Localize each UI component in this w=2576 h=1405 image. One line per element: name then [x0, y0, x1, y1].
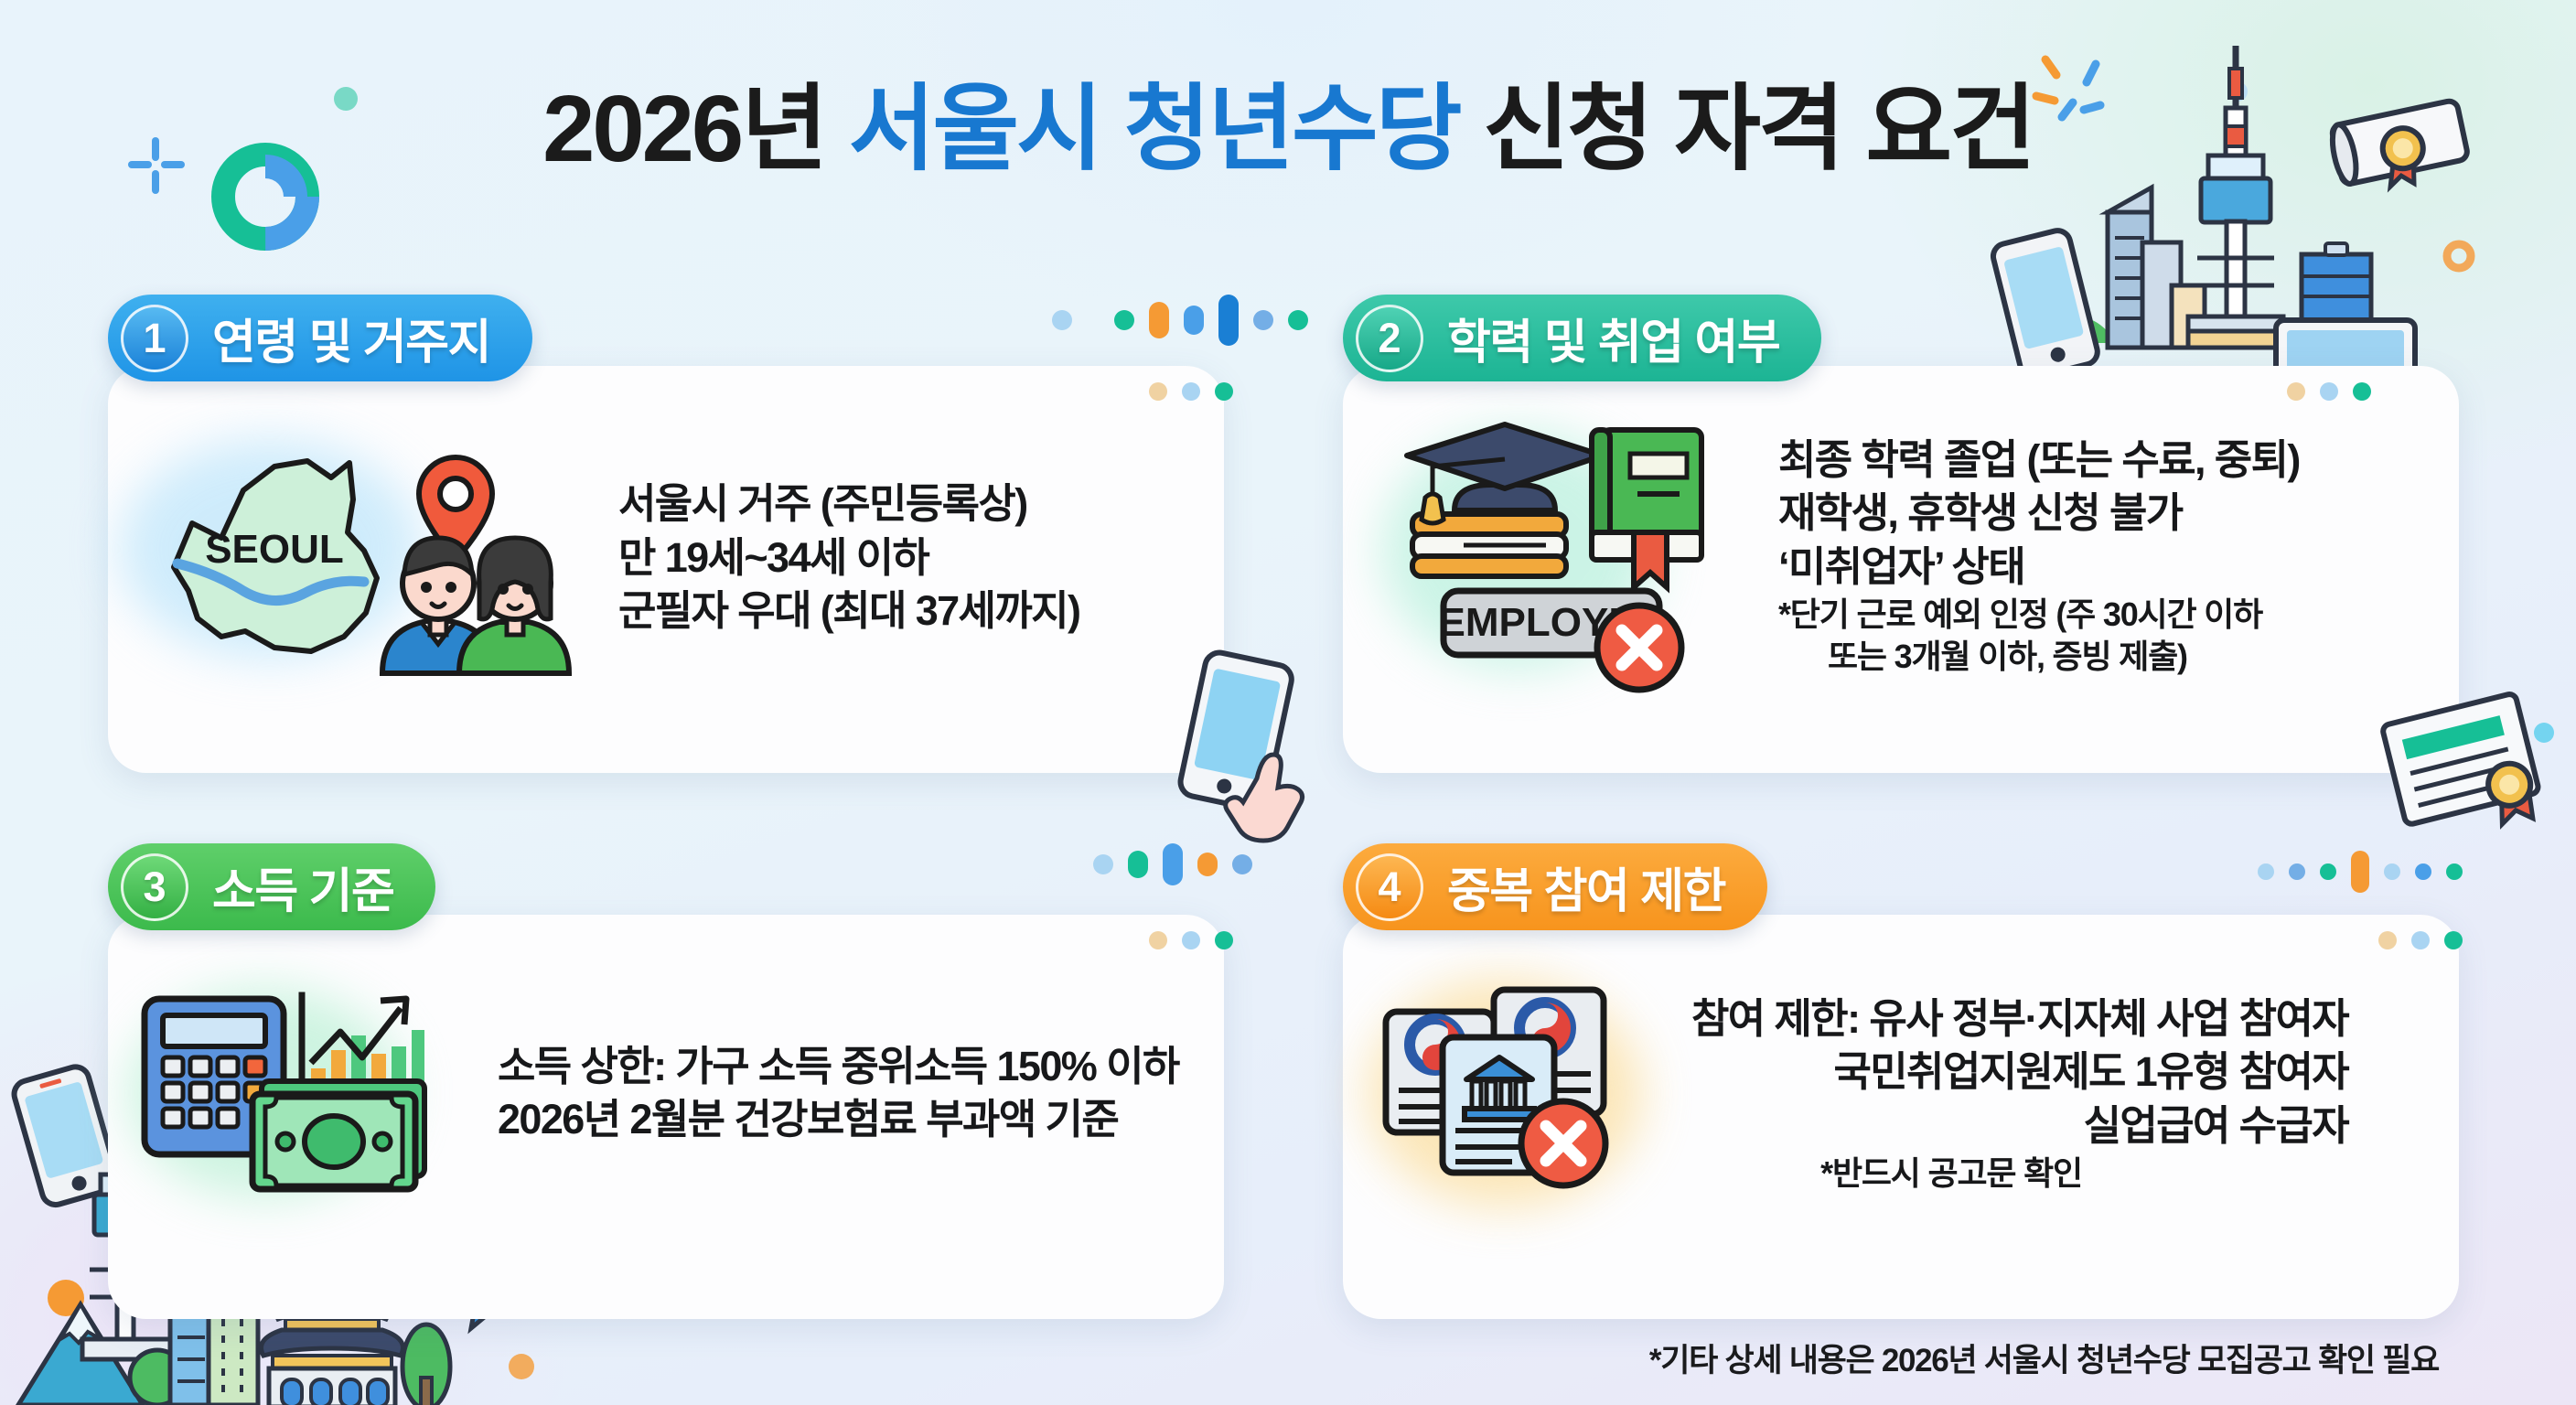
dot-row-card4 — [2258, 851, 2463, 893]
card-4-line-3: 실업급여 수급자 — [1691, 1099, 2348, 1153]
card-1-text: 서울시 거주 (주민등록상) 만 19세~34세 이하 군필자 우대 (최대 3… — [618, 477, 1079, 638]
infographic-canvas: 2026년 서울시 청년수당 신청 자격 요건 1 연령 및 거주지 2 학력 … — [0, 0, 2576, 1405]
card-2-text: 최종 학력 졸업 (또는 수료, 중퇴) 재학생, 휴학생 신청 불가 ‘미취업… — [1778, 434, 2300, 677]
dot-row-card3-lower — [1149, 931, 1233, 949]
red-x-icon — [1597, 606, 1681, 690]
card-number-3: 3 — [121, 853, 188, 921]
duplicate-restriction-illustration — [1377, 979, 1651, 1207]
dot-row-card3 — [1093, 843, 1252, 885]
page-title-wrap: 2026년 서울시 청년수당 신청 자격 요건 — [0, 77, 2576, 180]
card-2-artwork: EMPLOYED — [1372, 413, 1738, 697]
title-suffix: 신청 자격 요건 — [1460, 76, 2034, 181]
teal-dot-decor-2 — [2534, 723, 2554, 743]
card-4-line-1: 참여 제한: 유사 정부·지자체 사업 참여자 — [1691, 992, 2348, 1046]
card-1-line-1: 서울시 거주 (주민등록상) — [618, 477, 1079, 531]
card-2-line-2: 재학생, 휴학생 신청 불가 — [1778, 487, 2300, 541]
card-header-4: 4 중복 참여 제한 — [1343, 843, 1767, 930]
card-header-2: 2 학력 및 취업 여부 — [1343, 295, 1821, 381]
card-4-text: 참여 제한: 유사 정부·지자체 사업 참여자 국민취업지원제도 1유형 참여자… — [1691, 992, 2348, 1195]
card-body-4: 참여 제한: 유사 정부·지자체 사업 참여자 국민취업지원제도 1유형 참여자… — [1377, 979, 2465, 1207]
card-body-1: SEOUL — [137, 430, 1217, 686]
card-4-line-2: 국민취업지원제도 1유형 참여자 — [1691, 1046, 2348, 1099]
card-3-artwork — [128, 979, 457, 1207]
dot-row-card1-lower — [1149, 382, 1233, 401]
card-number-4: 4 — [1356, 853, 1423, 921]
card-2-line-1: 최종 학력 졸업 (또는 수료, 중퇴) — [1778, 434, 2300, 488]
page-title: 2026년 서울시 청년수당 신청 자격 요건 — [0, 77, 2576, 180]
dot-row-card1 — [1052, 295, 1308, 346]
card-4-note-1: *반드시 공고문 확인 — [1691, 1153, 2348, 1194]
seoul-map-label: SEOUL — [205, 527, 344, 572]
card-header-3: 3 소득 기준 — [108, 843, 435, 930]
education-employment-illustration: EMPLOYED — [1372, 413, 1738, 697]
card-3-line-1: 소득 상한: 가구 소득 중위소득 150% 이하 — [498, 1040, 1179, 1094]
card-2-line-3: ‘미취업자’ 상태 — [1778, 541, 2300, 595]
red-x-icon — [1521, 1101, 1605, 1185]
card-3-line-2: 2026년 2월분 건강보험료 부과액 기준 — [498, 1093, 1179, 1147]
card-1-line-3: 군필자 우대 (최대 37세까지) — [618, 585, 1079, 638]
card-heading-1: 연령 및 거주지 — [212, 304, 490, 372]
certificate-ribbon-decor — [2388, 695, 2576, 869]
card-1-line-2: 만 19세~34세 이하 — [618, 531, 1079, 585]
card-1-artwork: SEOUL — [137, 430, 567, 686]
title-prefix: 2026년 — [542, 76, 849, 181]
seoul-map-people-illustration: SEOUL — [137, 430, 567, 686]
card-header-1: 1 연령 및 거주지 — [108, 295, 532, 381]
graduation-cap-icon — [1407, 424, 1603, 523]
card-2-note-2: 또는 3개월 이하, 증빙 제출) — [1778, 636, 2300, 677]
card-2-note-1: *단기 근로 예외 인정 (주 30시간 이하 — [1778, 594, 2300, 635]
card-4-artwork — [1377, 979, 1651, 1207]
person-female-icon — [459, 538, 569, 673]
card-number-2: 2 — [1356, 305, 1423, 372]
card-heading-2: 학력 및 취업 여부 — [1447, 304, 1779, 372]
footer-note: *기타 상세 내용은 2026년 서울시 청년수당 모집공고 확인 필요 — [1649, 1335, 2439, 1381]
phone-tap-decor — [1180, 654, 1326, 846]
dot-row-card4-lower — [2378, 931, 2463, 949]
card-heading-4: 중복 참여 제한 — [1447, 853, 1725, 921]
card-body-2: EMPLOYED 최종 학력 졸업 (또는 수료, 중퇴) 재학생, 휴학생 신… — [1372, 413, 2461, 697]
dot-row-card2 — [2287, 382, 2371, 401]
green-book-icon — [1592, 430, 1701, 587]
header-skyline-decor — [2009, 18, 2576, 384]
card-number-1: 1 — [121, 305, 188, 372]
title-highlight: 서울시 청년수당 — [849, 76, 1460, 181]
banknote-icon — [252, 1081, 424, 1189]
card-3-text: 소득 상한: 가구 소득 중위소득 150% 이하 2026년 2월분 건강보험… — [498, 1040, 1179, 1147]
card-body-3: 소득 상한: 가구 소득 중위소득 150% 이하 2026년 2월분 건강보험… — [128, 979, 1226, 1207]
card-heading-3: 소득 기준 — [212, 853, 393, 921]
income-illustration — [128, 979, 457, 1207]
